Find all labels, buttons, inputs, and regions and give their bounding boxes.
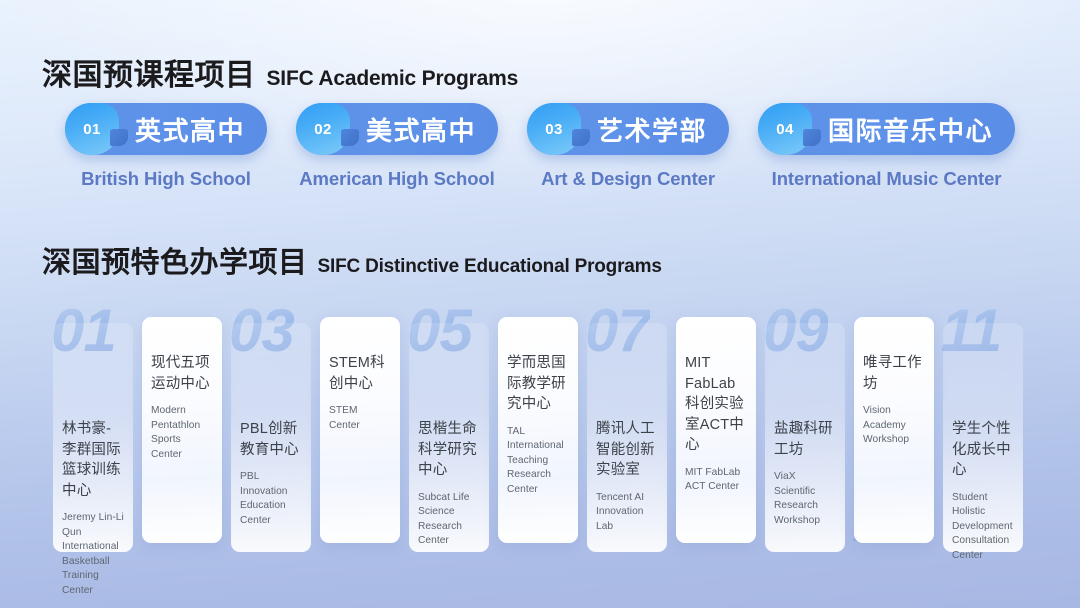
- distinctive-card-slot-09: 09盐趣科研工坊ViaX Scientific Research Worksho…: [765, 295, 845, 565]
- distinctive-card[interactable]: 盐趣科研工坊ViaX Scientific Research Workshop: [765, 323, 845, 552]
- distinctive-card[interactable]: 学而思国际教学研究中心TAL International Teaching Re…: [498, 317, 578, 543]
- card-title-cn: 林书豪-李群国际篮球训练中心: [62, 419, 124, 501]
- distinctive-card-slot-07: 07腾讯人工智能创新实验室Tencent AI Innovation Lab: [587, 295, 667, 565]
- card-text-block: 盐趣科研工坊ViaX Scientific Research Workshop: [774, 419, 836, 528]
- card-title-cn: 腾讯人工智能创新实验室: [596, 419, 658, 481]
- distinctive-card[interactable]: 腾讯人工智能创新实验室Tencent AI Innovation Lab: [587, 323, 667, 552]
- card-text-block: 腾讯人工智能创新实验室Tencent AI Innovation Lab: [596, 419, 658, 534]
- card-text-block: 现代五项运动中心Modern Pentathlon Sports Center: [151, 353, 213, 462]
- distinctive-card[interactable]: 唯寻工作坊Vision Academy Workshop: [854, 317, 934, 543]
- card-title-en: Subcat Life Science Research Center: [418, 491, 480, 549]
- distinctive-card[interactable]: 林书豪-李群国际篮球训练中心Jeremy Lin-Li Qun Internat…: [53, 323, 133, 552]
- distinctive-card-slot-05: 05思楷生命科学研究中心Subcat Life Science Research…: [409, 295, 489, 565]
- program-pill-02[interactable]: 02美式高中American High School: [296, 103, 498, 190]
- distinctive-card[interactable]: 学生个性化成长中心Student Holistic Development Co…: [943, 323, 1023, 552]
- card-title-en: Jeremy Lin-Li Qun International Basketba…: [62, 511, 124, 598]
- card-title-cn: 唯寻工作坊: [863, 353, 925, 394]
- distinctive-card-slot-03: 03PBL创新教育中心PBL Innovation Education Cent…: [231, 295, 311, 565]
- card-title-en: MIT FabLab ACT Center: [685, 466, 747, 495]
- card-text-block: MIT FabLab科创实验室ACT中心MIT FabLab ACT Cente…: [685, 353, 747, 495]
- distinctive-card-slot-04: 04STEM科创中心STEM Center: [320, 295, 400, 565]
- distinctive-heading-en: SIFC Distinctive Educational Programs: [318, 256, 662, 278]
- card-title-cn: 现代五项运动中心: [151, 353, 213, 394]
- program-number: 02: [314, 121, 332, 138]
- program-pill-04[interactable]: 04国际音乐中心International Music Center: [758, 103, 1015, 190]
- distinctive-card-slot-11: 11学生个性化成长中心Student Holistic Development …: [943, 295, 1023, 565]
- distinctive-card[interactable]: STEM科创中心STEM Center: [320, 317, 400, 543]
- card-title-en: STEM Center: [329, 404, 391, 433]
- distinctive-card-slot-01: 01林书豪-李群国际篮球训练中心Jeremy Lin-Li Qun Intern…: [53, 295, 133, 565]
- program-label-en: International Music Center: [772, 168, 1002, 190]
- card-title-en: TAL International Teaching Research Cent…: [507, 425, 569, 497]
- distinctive-card-slot-02: 02现代五项运动中心Modern Pentathlon Sports Cente…: [142, 295, 222, 565]
- program-label-cn: 英式高中: [135, 111, 245, 148]
- program-number-badge: 04: [758, 103, 812, 155]
- academic-section-heading: 深国预课程项目 SIFC Academic Programs: [42, 50, 518, 94]
- distinctive-card-slot-06: 06学而思国际教学研究中心TAL International Teaching …: [498, 295, 578, 565]
- program-label-cn: 艺术学部: [597, 111, 707, 148]
- distinctive-section-heading: 深国预特色办学项目 SIFC Distinctive Educational P…: [42, 239, 662, 281]
- program-pill-body[interactable]: 04国际音乐中心: [758, 103, 1015, 155]
- distinctive-card-slot-10: 10唯寻工作坊Vision Academy Workshop: [854, 295, 934, 565]
- distinctive-card-slot-08: 08MIT FabLab科创实验室ACT中心MIT FabLab ACT Cen…: [676, 295, 756, 565]
- distinctive-card[interactable]: MIT FabLab科创实验室ACT中心MIT FabLab ACT Cente…: [676, 317, 756, 543]
- program-pill-body[interactable]: 01英式高中: [65, 103, 267, 155]
- card-title-en: PBL Innovation Education Center: [240, 470, 302, 528]
- academic-program-list: 01英式高中British High School02美式高中American …: [0, 103, 1080, 190]
- distinctive-card[interactable]: 现代五项运动中心Modern Pentathlon Sports Center: [142, 317, 222, 543]
- program-pill-body[interactable]: 02美式高中: [296, 103, 498, 155]
- program-pill-01[interactable]: 01英式高中British High School: [65, 103, 267, 190]
- academic-heading-en: SIFC Academic Programs: [267, 67, 519, 91]
- card-title-cn: MIT FabLab科创实验室ACT中心: [685, 353, 747, 456]
- program-number-badge: 02: [296, 103, 350, 155]
- card-text-block: 林书豪-李群国际篮球训练中心Jeremy Lin-Li Qun Internat…: [62, 419, 124, 598]
- card-title-en: Tencent AI Innovation Lab: [596, 491, 658, 534]
- card-title-cn: 盐趣科研工坊: [774, 419, 836, 460]
- academic-heading-cn: 深国预课程项目: [42, 50, 256, 94]
- program-number-badge: 03: [527, 103, 581, 155]
- program-label-cn: 美式高中: [366, 111, 476, 148]
- distinctive-heading-cn: 深国预特色办学项目: [42, 239, 308, 281]
- program-number: 03: [545, 121, 563, 138]
- program-number: 04: [776, 121, 794, 138]
- distinctive-card[interactable]: PBL创新教育中心PBL Innovation Education Center: [231, 323, 311, 552]
- program-number: 01: [83, 121, 101, 138]
- card-text-block: STEM科创中心STEM Center: [329, 353, 391, 433]
- program-label-cn: 国际音乐中心: [828, 111, 993, 148]
- card-text-block: 思楷生命科学研究中心Subcat Life Science Research C…: [418, 419, 480, 549]
- card-title-cn: STEM科创中心: [329, 353, 391, 394]
- program-pill-03[interactable]: 03艺术学部Art & Design Center: [527, 103, 729, 190]
- program-label-en: British High School: [81, 168, 251, 190]
- card-text-block: 学生个性化成长中心Student Holistic Development Co…: [952, 419, 1014, 563]
- distinctive-card[interactable]: 思楷生命科学研究中心Subcat Life Science Research C…: [409, 323, 489, 552]
- card-title-en: ViaX Scientific Research Workshop: [774, 470, 836, 528]
- card-title-cn: 学生个性化成长中心: [952, 419, 1014, 481]
- card-title-en: Modern Pentathlon Sports Center: [151, 404, 213, 462]
- card-title-cn: 学而思国际教学研究中心: [507, 353, 569, 415]
- card-text-block: PBL创新教育中心PBL Innovation Education Center: [240, 419, 302, 528]
- card-text-block: 学而思国际教学研究中心TAL International Teaching Re…: [507, 353, 569, 497]
- program-pill-body[interactable]: 03艺术学部: [527, 103, 729, 155]
- card-title-cn: 思楷生命科学研究中心: [418, 419, 480, 481]
- card-title-cn: PBL创新教育中心: [240, 419, 302, 460]
- card-text-block: 唯寻工作坊Vision Academy Workshop: [863, 353, 925, 448]
- program-label-en: American High School: [299, 168, 494, 190]
- distinctive-program-card-row: 01林书豪-李群国际篮球训练中心Jeremy Lin-Li Qun Intern…: [53, 295, 1033, 565]
- program-number-badge: 01: [65, 103, 119, 155]
- program-label-en: Art & Design Center: [541, 168, 715, 190]
- card-title-en: Vision Academy Workshop: [863, 404, 925, 447]
- card-title-en: Student Holistic Development Consultatio…: [952, 491, 1014, 563]
